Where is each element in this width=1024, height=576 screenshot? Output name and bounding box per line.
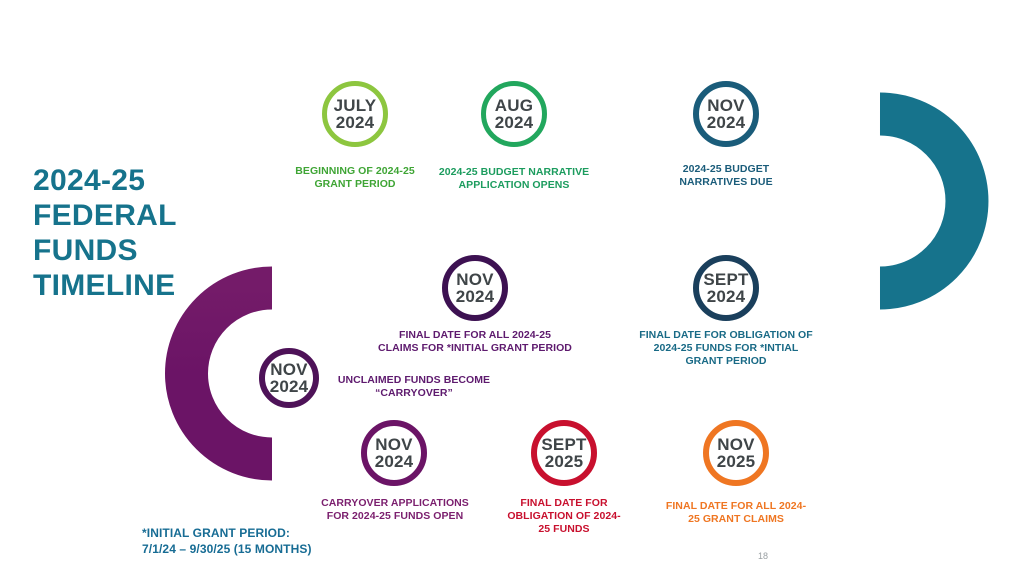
- milestone-caption-july-2024: BEGINNING OF 2024-25GRANT PERIOD: [267, 165, 443, 191]
- caption-line: 25 FUNDS: [495, 523, 633, 536]
- footnote-line-1: *INITIAL GRANT PERIOD:: [142, 526, 312, 542]
- caption-line: BEGINNING OF 2024-25: [267, 165, 443, 178]
- milestone-caption-nov-2024-budget-due: 2024-25 BUDGETNARRATIVES DUE: [650, 163, 802, 189]
- milestone-month: SEPT: [541, 436, 586, 453]
- milestone-node-nov-2024-final-claims: NOV2024: [442, 255, 508, 321]
- milestone-node-sept-2025-obligation: SEPT2025: [531, 420, 597, 486]
- milestone-year: 2024: [336, 114, 375, 131]
- milestone-month: SEPT: [703, 271, 748, 288]
- milestone-node-nov-2024-carryover: NOV2024: [259, 348, 319, 408]
- caption-line: “CARRYOVER”: [333, 387, 495, 400]
- milestone-caption-sept-2024-obligation: FINAL DATE FOR OBLIGATION OF2024-25 FUND…: [633, 329, 819, 369]
- milestone-month: AUG: [495, 97, 533, 114]
- caption-line: CLAIMS FOR *INITIAL GRANT PERIOD: [375, 342, 575, 355]
- milestone-caption-nov-2024-final-claims: FINAL DATE FOR ALL 2024-25CLAIMS FOR *IN…: [375, 329, 575, 355]
- milestone-year: 2024: [495, 114, 534, 131]
- caption-line: OBLIGATION OF 2024-: [495, 510, 633, 523]
- milestone-month: NOV: [717, 436, 754, 453]
- page-title-line-3: FUNDS: [33, 233, 233, 268]
- milestone-month: NOV: [270, 361, 307, 378]
- caption-line: 2024-25 BUDGET NARRATIVE: [424, 166, 604, 179]
- milestone-caption-nov-2024-carryover-apps: CARRYOVER APPLICATIONSFOR 2024-25 FUNDS …: [312, 497, 478, 523]
- milestone-year: 2024: [456, 288, 495, 305]
- milestone-month: NOV: [456, 271, 493, 288]
- caption-line: FINAL DATE FOR ALL 2024-: [650, 500, 822, 513]
- milestone-month: NOV: [375, 436, 412, 453]
- milestone-caption-nov-2024-carryover: UNCLAIMED FUNDS BECOME“CARRYOVER”: [333, 374, 495, 400]
- caption-line: 2024-25 FUNDS FOR *INTIAL: [633, 342, 819, 355]
- milestone-node-july-2024: JULY2024: [322, 81, 388, 147]
- page-number: 18: [758, 551, 768, 561]
- page-title-line-4: TIMELINE: [33, 268, 233, 303]
- milestone-year: 2024: [707, 114, 746, 131]
- milestone-year: 2025: [717, 453, 756, 470]
- milestone-caption-nov-2025-final-claims: FINAL DATE FOR ALL 2024-25 GRANT CLAIMS: [650, 500, 822, 526]
- milestone-node-aug-2024: AUG2024: [481, 81, 547, 147]
- footnote-line-2: 7/1/24 – 9/30/25 (15 MONTHS): [142, 542, 312, 558]
- caption-line: FINAL DATE FOR OBLIGATION OF: [633, 329, 819, 342]
- caption-line: APPLICATION OPENS: [424, 179, 604, 192]
- timeline-slide: 2024-25 FEDERAL FUNDS TIMELINE JULY2024B…: [0, 0, 1024, 576]
- caption-line: GRANT PERIOD: [633, 355, 819, 368]
- caption-line: FOR 2024-25 FUNDS OPEN: [312, 510, 478, 523]
- page-title-line-2: FEDERAL: [33, 198, 233, 233]
- caption-line: FINAL DATE FOR: [495, 497, 633, 510]
- caption-line: 2024-25 BUDGET: [650, 163, 802, 176]
- milestone-year: 2024: [375, 453, 414, 470]
- caption-line: GRANT PERIOD: [267, 178, 443, 191]
- caption-line: NARRATIVES DUE: [650, 176, 802, 189]
- milestone-month: JULY: [334, 97, 377, 114]
- milestone-node-nov-2024-carryover-apps: NOV2024: [361, 420, 427, 486]
- milestone-node-nov-2025-final-claims: NOV2025: [703, 420, 769, 486]
- ribbon-segment-right-turn: [880, 114, 967, 288]
- milestone-year: 2025: [545, 453, 584, 470]
- milestone-caption-aug-2024: 2024-25 BUDGET NARRATIVEAPPLICATION OPEN…: [424, 166, 604, 192]
- milestone-node-sept-2024-obligation: SEPT2024: [693, 255, 759, 321]
- page-title-line-1: 2024-25: [33, 163, 233, 198]
- milestone-node-nov-2024-budget-due: NOV2024: [693, 81, 759, 147]
- caption-line: CARRYOVER APPLICATIONS: [312, 497, 478, 510]
- milestone-month: NOV: [707, 97, 744, 114]
- footnote: *INITIAL GRANT PERIOD: 7/1/24 – 9/30/25 …: [142, 526, 312, 558]
- caption-line: 25 GRANT CLAIMS: [650, 513, 822, 526]
- caption-line: UNCLAIMED FUNDS BECOME: [333, 374, 495, 387]
- caption-line: FINAL DATE FOR ALL 2024-25: [375, 329, 575, 342]
- milestone-year: 2024: [707, 288, 746, 305]
- milestone-caption-sept-2025-obligation: FINAL DATE FOROBLIGATION OF 2024-25 FUND…: [495, 497, 633, 537]
- page-title: 2024-25 FEDERAL FUNDS TIMELINE: [33, 163, 233, 303]
- milestone-year: 2024: [270, 378, 309, 395]
